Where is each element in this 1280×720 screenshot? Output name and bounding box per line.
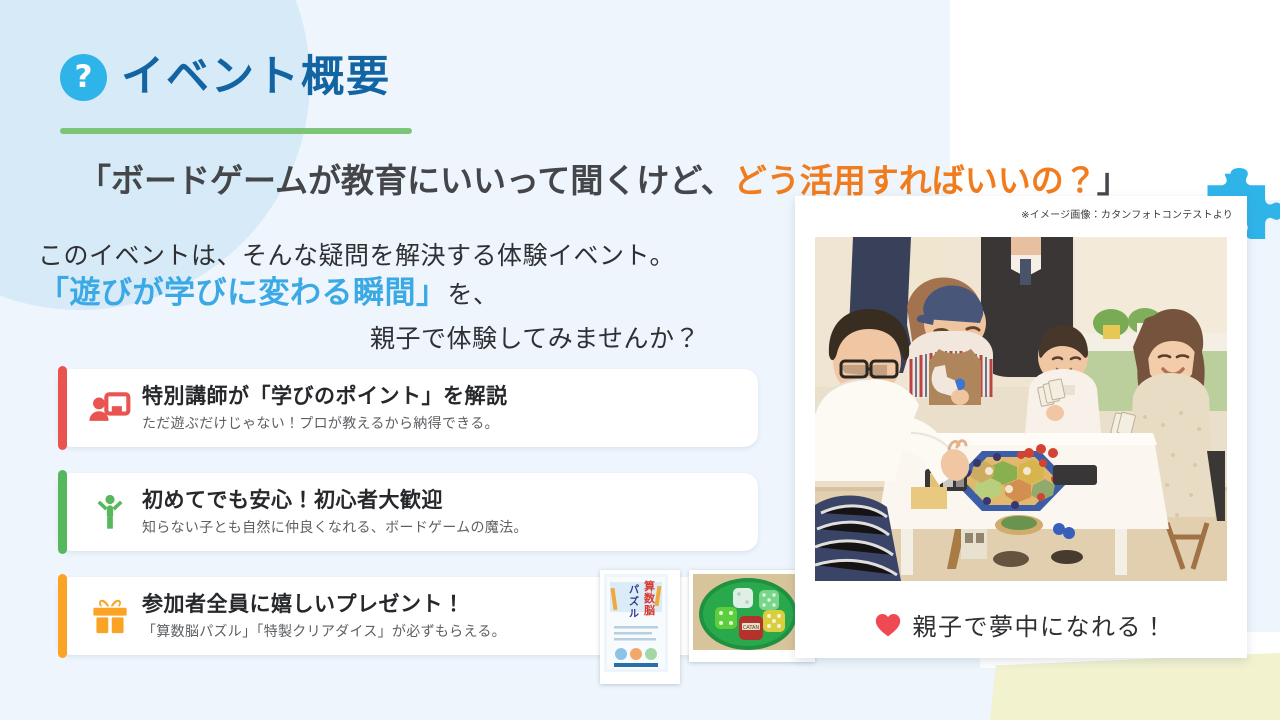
card-title: 特別講師が「学びのポイント」を解説 — [142, 383, 758, 409]
lead-copy: このイベントは、そんな疑問を解決する体験イベント。 「遊びが学びに変わる瞬間」を… — [38, 240, 718, 355]
gift-box-icon — [84, 590, 136, 642]
lead-line-1: このイベントは、そんな疑問を解決する体験イベント。 — [38, 240, 718, 271]
headline-suffix: 」 — [1097, 161, 1130, 200]
card-accent-bar — [58, 574, 67, 658]
svg-text:脳: 脳 — [644, 604, 655, 617]
headline-accent: どう活用すればいいの？ — [734, 161, 1097, 200]
photo-caption: 親子で夢中になれる！ — [795, 607, 1247, 642]
product-thumbnail-list: 算 数 脳 パ ズ ル — [600, 570, 815, 684]
page-title: イベント概要 — [121, 56, 391, 99]
photo-panel: ※イメージ画像：カタンフォトコンテストより — [795, 196, 1247, 658]
lead-highlight: 「遊びが学びに変わる瞬間」 — [38, 275, 448, 311]
card-accent-bar — [58, 366, 67, 450]
headline-prefix: 「ボードゲームが教育にいいって聞くけど、 — [78, 161, 734, 200]
caption-text: 親子で夢中になれる！ — [913, 607, 1168, 642]
child-raising-arms-icon — [84, 486, 136, 538]
family-playing-board-game-photo — [815, 237, 1227, 581]
svg-text:数: 数 — [643, 591, 656, 605]
heart-icon — [875, 612, 901, 638]
title-underline — [60, 128, 412, 134]
card-title: 初めてでも安心！初心者大歓迎 — [142, 487, 758, 513]
lead-line-2: 「遊びが学びに変わる瞬間」を、 — [38, 273, 718, 315]
lead-line-3: 親子で体験してみませんか？ — [38, 319, 718, 355]
svg-text:算: 算 — [643, 579, 655, 593]
card-subtitle: 知らない子とも自然に仲良くなれる、ボードゲームの魔法。 — [142, 519, 758, 537]
svg-text:ル: ル — [629, 609, 639, 620]
svg-text:パ: パ — [629, 584, 639, 596]
card-text-block: 初めてでも安心！初心者大歓迎 知らない子とも自然に仲良くなれる、ボードゲームの魔… — [142, 487, 758, 536]
book-cover-thumbnail: 算 数 脳 パ ズ ル — [600, 570, 680, 684]
lead-line-2-tail: を、 — [448, 280, 499, 309]
svg-text:ズ: ズ — [629, 595, 639, 608]
presenter-board-icon — [84, 382, 136, 434]
slide-root: ? イベント概要 「ボードゲームが教育にいいって聞くけど、どう活用すればいいの？… — [0, 0, 1280, 720]
card-subtitle: ただ遊ぶだけじゃない！プロが教えるから納得できる。 — [142, 415, 758, 433]
headline-quote: 「ボードゲームが教育にいいって聞くけど、どう活用すればいいの？」 — [78, 154, 1130, 202]
page-header: ? イベント概要 — [60, 54, 391, 101]
svg-text:CATAN: CATAN — [743, 625, 760, 631]
feature-card[interactable]: 初めてでも安心！初心者大歓迎 知らない子とも自然に仲良くなれる、ボードゲームの魔… — [58, 473, 758, 551]
photo-credit: ※イメージ画像：カタンフォトコンテストより — [1021, 206, 1233, 221]
card-accent-bar — [58, 470, 67, 554]
question-mark-icon: ? — [60, 54, 107, 101]
feature-card[interactable]: 特別講師が「学びのポイント」を解説 ただ遊ぶだけじゃない！プロが教えるから納得で… — [58, 369, 758, 447]
card-text-block: 特別講師が「学びのポイント」を解説 ただ遊ぶだけじゃない！プロが教えるから納得で… — [142, 383, 758, 432]
